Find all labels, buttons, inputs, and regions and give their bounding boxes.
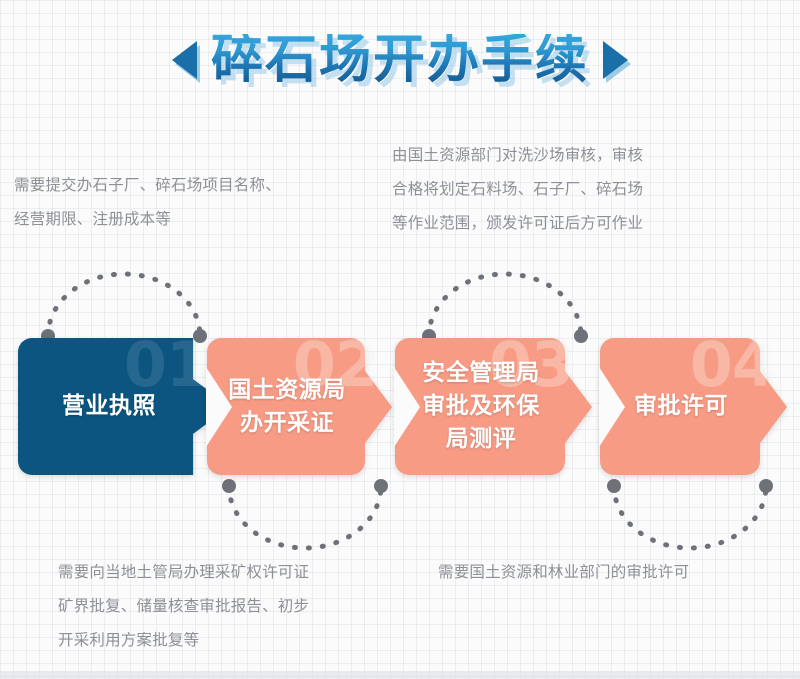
triangle-right-icon [603, 41, 628, 79]
step-1-label: 营业执照 [62, 390, 156, 423]
arc-step3-to-desc3 [415, 252, 595, 344]
step-3-label: 安全管理局 审批及环保 局测评 [422, 357, 540, 456]
description-step-1: 需要提交办石子厂、碎石场项目名称、 经营期限、注册成本等 [14, 168, 384, 236]
step-2-arrow-icon [362, 367, 392, 447]
step-4-notch [599, 367, 625, 447]
bottom-accent-bar [0, 671, 800, 679]
description-step-2: 需要向当地土管局办理采矿权许可证 矿界批复、储量核查审批报告、初步 开采利用方案… [58, 555, 418, 657]
step-3-notch [394, 367, 420, 447]
step-block-2[interactable]: 02 国土资源局 办开采证 [207, 338, 395, 475]
step-block-1[interactable]: 01 营业执照 [18, 338, 230, 475]
process-steps: 01 营业执照 02 国土资源局 办开采证 03 安全管理局 审批及环保 局测评… [0, 338, 800, 478]
step-4-label: 审批许可 [634, 390, 728, 423]
step-3-arrow-icon [562, 367, 592, 447]
title-row: 碎石场开办手续 [0, 22, 800, 97]
step-block-3[interactable]: 03 安全管理局 审批及环保 局测评 [395, 338, 595, 475]
step-block-4[interactable]: 04 审批许可 [600, 338, 790, 475]
step-2-label: 国土资源局 办开采证 [228, 374, 346, 440]
page-title: 碎石场开办手续 [211, 34, 589, 86]
description-step-4: 需要国土资源和林业部门的审批许可 [438, 555, 798, 589]
infographic-root: 碎石场开办手续 碎石场开办手续 需要提交办石子厂、碎石场项目名称、 经营期限、注… [0, 0, 800, 679]
arc-step1-to-desc1 [34, 252, 214, 344]
description-step-3: 由国土资源部门对洗沙场审核，审核 合格将划定石料场、石子厂、碎石场 等作业范围，… [392, 138, 792, 240]
triangle-left-icon [172, 41, 197, 79]
step-4-arrow-icon [757, 367, 787, 447]
